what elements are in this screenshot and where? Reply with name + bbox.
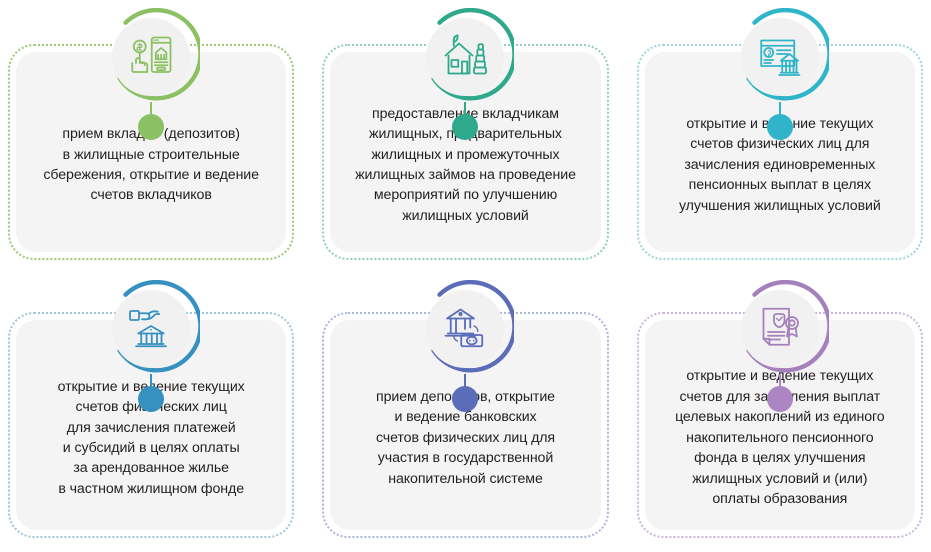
bank-banknote-icon xyxy=(426,290,504,368)
card-3-medallion[interactable] xyxy=(720,4,840,134)
card-6[interactable]: открытие и ведение текущих счетов для за… xyxy=(635,276,925,546)
card-1[interactable]: прием вкладов (депозитов) в жилищные стр… xyxy=(6,4,296,274)
house-growth-stack-icon xyxy=(426,18,504,96)
card-2-dot xyxy=(452,114,478,140)
card-2-medallion[interactable] xyxy=(405,4,525,134)
certificate-seal-ribbon-icon xyxy=(741,290,819,368)
card-6-medallion[interactable] xyxy=(720,276,840,406)
hand-key-building-icon xyxy=(112,290,190,368)
card-3[interactable]: открытие и ведение текущих счетов физиче… xyxy=(635,4,925,274)
card-5-medallion[interactable] xyxy=(405,276,525,406)
card-3-dot xyxy=(767,114,793,140)
cards-grid: прием вкладов (депозитов) в жилищные стр… xyxy=(0,0,931,552)
document-bank-pension-icon xyxy=(741,18,819,96)
card-6-dot xyxy=(767,386,793,412)
card-4[interactable]: открытие и ведение текущих счетов физиче… xyxy=(6,276,296,546)
card-2[interactable]: предоставление вкладчикам жилищных, пред… xyxy=(320,4,610,274)
card-5[interactable]: прием депозитов, открытие и ведение банк… xyxy=(320,276,610,546)
hand-coin-mobile-bank-icon xyxy=(112,18,190,96)
card-1-dot xyxy=(138,114,164,140)
card-5-dot xyxy=(452,386,478,412)
infographic-board: прием вкладов (депозитов) в жилищные стр… xyxy=(0,0,931,552)
card-4-medallion[interactable] xyxy=(91,276,211,406)
card-1-medallion[interactable] xyxy=(91,4,211,134)
card-4-dot xyxy=(138,386,164,412)
